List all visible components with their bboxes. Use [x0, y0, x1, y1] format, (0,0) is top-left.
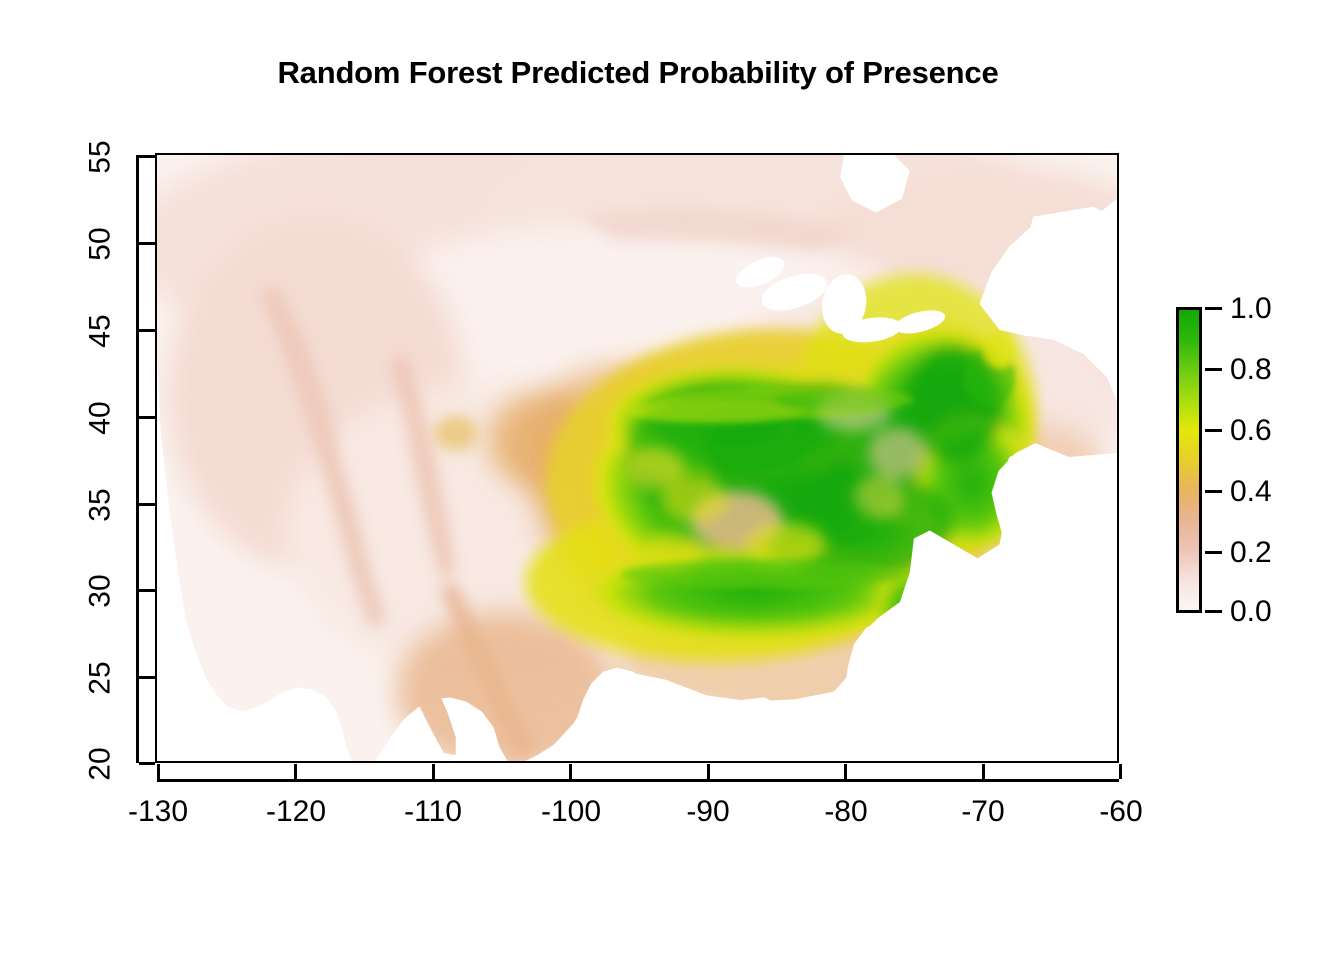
y-tick-mark — [139, 762, 155, 765]
colorbar-label-0.2: 0.2 — [1230, 536, 1272, 570]
colorbar-label-0.8: 0.8 — [1230, 353, 1272, 387]
colorbar-label-0.6: 0.6 — [1230, 414, 1272, 448]
colorbar-label-0.4: 0.4 — [1230, 475, 1272, 509]
y-tick-mark — [139, 676, 155, 679]
x-axis-label-80: -80 — [824, 795, 867, 829]
x-tick-mark — [569, 764, 572, 779]
x-tick-mark — [157, 764, 160, 779]
y-tick-mark — [139, 589, 155, 592]
y-tick-mark — [139, 242, 155, 245]
y-axis-label-20: 20 — [84, 747, 118, 780]
colorbar-tick-0.4 — [1205, 490, 1222, 493]
map-plot-panel[interactable] — [155, 153, 1119, 763]
x-axis-line — [157, 779, 1119, 782]
page-title: Random Forest Predicted Probability of P… — [0, 55, 1276, 91]
x-tick-mark — [707, 764, 710, 779]
colorbar-label-1.0: 1.0 — [1230, 292, 1272, 326]
x-axis-label-70: -70 — [961, 795, 1004, 829]
colorbar-gradient — [1176, 307, 1202, 613]
y-axis-line — [136, 155, 139, 763]
colorbar-tick-1.0 — [1205, 307, 1222, 310]
x-tick-mark — [982, 764, 985, 779]
x-tick-mark — [844, 764, 847, 779]
colorbar-tick-0.8 — [1205, 368, 1222, 371]
x-axis-label-120: -120 — [266, 795, 326, 829]
y-axis-label-30: 30 — [84, 574, 118, 607]
y-tick-mark — [139, 155, 155, 158]
x-axis-label-110: -110 — [404, 795, 462, 829]
y-axis-label-45: 45 — [84, 314, 118, 347]
x-tick-mark — [432, 764, 435, 779]
y-axis-label-50: 50 — [84, 227, 118, 260]
y-axis-label-55: 55 — [84, 140, 118, 173]
colorbar-legend[interactable]: 1.0 0.8 0.6 0.4 0.2 0.0 — [1176, 307, 1202, 613]
x-axis-label-130: -130 — [128, 795, 188, 829]
y-axis-label-40: 40 — [84, 401, 118, 434]
x-axis-label-90: -90 — [686, 795, 729, 829]
y-tick-mark — [139, 503, 155, 506]
y-axis-label-25: 25 — [84, 661, 118, 694]
colorbar-tick-0.6 — [1205, 429, 1222, 432]
x-tick-mark — [1119, 764, 1122, 779]
x-axis-label-60: -60 — [1099, 795, 1142, 829]
plot-root: Random Forest Predicted Probability of P… — [0, 0, 1344, 960]
x-axis-label-100: -100 — [541, 795, 601, 829]
colorbar-label-0.0: 0.0 — [1230, 595, 1272, 629]
raster-map — [157, 155, 1117, 761]
y-tick-mark — [139, 329, 155, 332]
x-tick-mark — [294, 764, 297, 779]
colorbar-tick-0.2 — [1205, 551, 1222, 554]
y-tick-mark — [139, 416, 155, 419]
y-axis-label-35: 35 — [84, 488, 118, 521]
colorbar-tick-0.0 — [1205, 610, 1222, 613]
